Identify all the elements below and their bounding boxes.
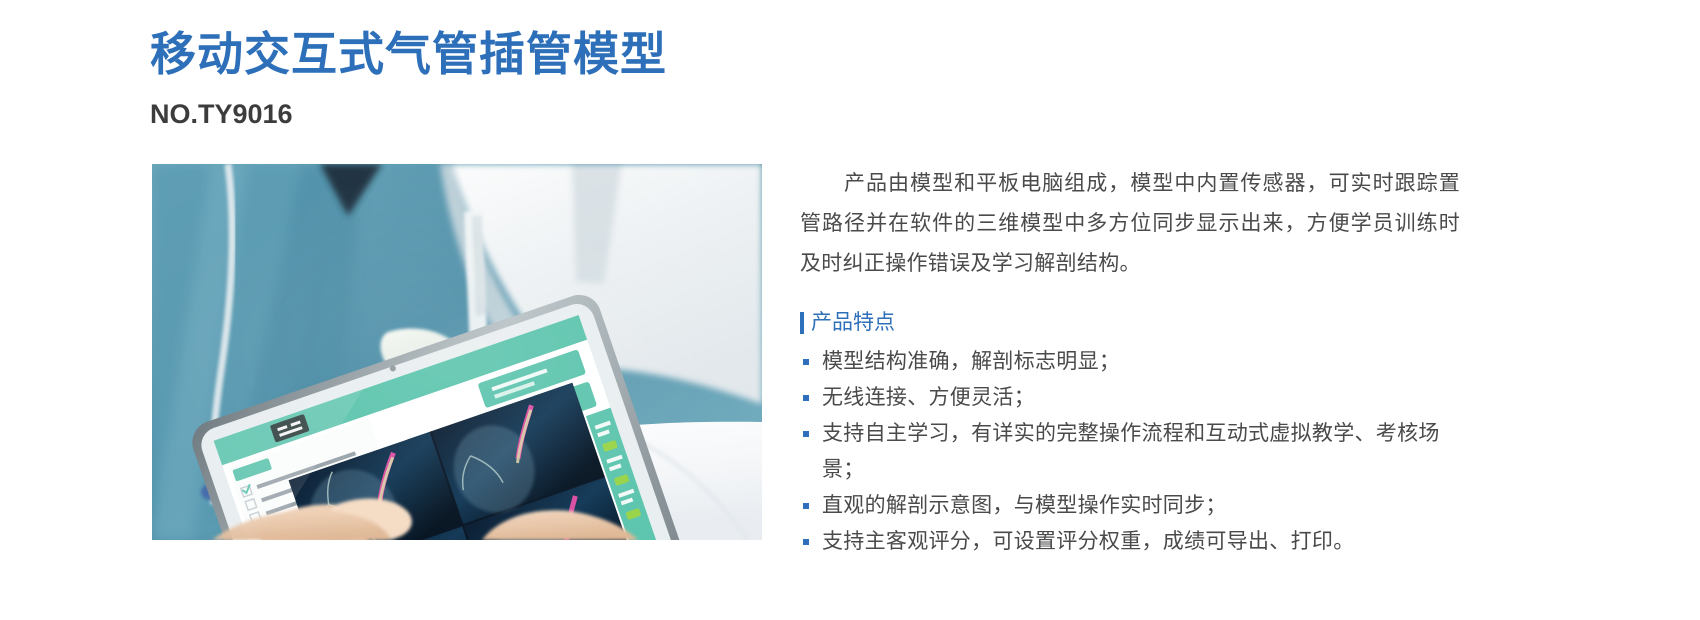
- page-title: 移动交互式气管插管模型: [150, 30, 667, 80]
- list-item: 无线连接、方便灵活；: [800, 380, 1460, 416]
- list-item: 直观的解剖示意图，与模型操作实时同步；: [800, 488, 1460, 524]
- bullet-square-icon: [803, 539, 809, 545]
- bullet-square-icon: [803, 503, 809, 509]
- list-item: 支持主客观评分，可设置评分权重，成绩可导出、打印。: [800, 524, 1460, 560]
- feature-text: 支持主客观评分，可设置评分权重，成绩可导出、打印。: [822, 530, 1355, 553]
- heading-accent-bar: [800, 312, 804, 334]
- intro-paragraph: 产品由模型和平板电脑组成，模型中内置传感器，可实时跟踪置管路径并在软件的三维模型…: [800, 164, 1460, 284]
- feature-text: 支持自主学习，有详实的完整操作流程和互动式虚拟教学、考核场景；: [822, 422, 1440, 481]
- list-item: 模型结构准确，解剖标志明显；: [800, 344, 1460, 380]
- description-column: 产品由模型和平板电脑组成，模型中内置传感器，可实时跟踪置管路径并在软件的三维模型…: [800, 164, 1460, 560]
- features-heading-label: 产品特点: [811, 311, 895, 334]
- product-photo: [152, 164, 762, 540]
- feature-text: 无线连接、方便灵活；: [822, 386, 1035, 409]
- features-heading: 产品特点: [800, 308, 1460, 338]
- product-photo-illustration: [152, 164, 762, 540]
- list-item: 支持自主学习，有详实的完整操作流程和互动式虚拟教学、考核场景；: [800, 416, 1460, 488]
- bullet-square-icon: [803, 431, 809, 437]
- bullet-square-icon: [803, 359, 809, 365]
- product-spec-page: 移动交互式气管插管模型 NO.TY9016: [0, 0, 1700, 620]
- model-number: NO.TY9016: [150, 99, 293, 130]
- bullet-square-icon: [803, 395, 809, 401]
- feature-text: 模型结构准确，解剖标志明显；: [822, 350, 1120, 373]
- feature-text: 直观的解剖示意图，与模型操作实时同步；: [822, 494, 1227, 517]
- features-list: 模型结构准确，解剖标志明显； 无线连接、方便灵活； 支持自主学习，有详实的完整操…: [800, 344, 1460, 560]
